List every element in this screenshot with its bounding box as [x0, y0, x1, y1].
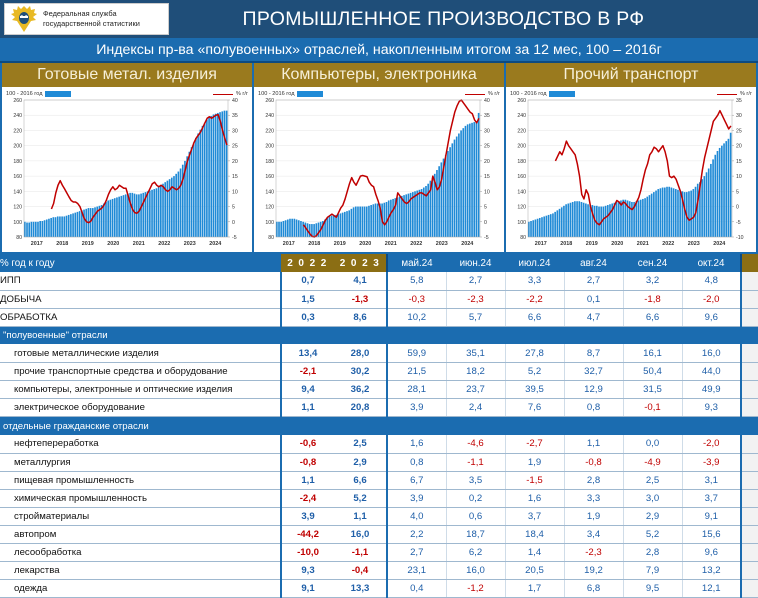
table-cell: 8,1 — [741, 308, 758, 326]
legend-bar-swatch — [297, 91, 323, 97]
table-cell: 19,2 — [564, 562, 623, 580]
row-label: стройматериалы — [0, 507, 281, 525]
col-header-metric: % год к году — [0, 254, 281, 272]
table-cell: 6,6 — [505, 308, 564, 326]
svg-text:2020: 2020 — [611, 241, 623, 247]
legend-bar-label: 100 - 2016 год — [258, 91, 294, 97]
table-row: ОБРАБОТКА0,38,610,25,76,64,76,69,68,1 — [0, 308, 758, 326]
table-cell: -0,9 — [741, 453, 758, 471]
svg-text:-5: -5 — [484, 235, 489, 241]
table-row: металлургия-0,82,90,8-1,11,9-0,8-4,9-3,9… — [0, 453, 758, 471]
table-cell: 1,6 — [387, 435, 446, 453]
table-cell: 2,8 — [564, 471, 623, 489]
table-cell: -0,7 — [741, 290, 758, 308]
table-cell: 10,2 — [387, 308, 446, 326]
svg-text:2021: 2021 — [637, 241, 649, 247]
row-label: нефтепереработка — [0, 435, 281, 453]
table-cell: 35,1 — [446, 344, 505, 362]
table-cell: 9,5 — [623, 580, 682, 598]
table-cell: 3,7 — [682, 489, 741, 507]
logo-line-1: Федеральная служба — [43, 9, 140, 19]
table-cell: 0,0 — [623, 435, 682, 453]
svg-text:180: 180 — [265, 159, 274, 165]
rosstat-logo: Федеральная служба государственной стати… — [4, 3, 169, 35]
table-cell: 0,1 — [564, 290, 623, 308]
chart-title-2: Прочий транспорт — [506, 63, 756, 87]
table-row: пищевая промышленность1,16,66,73,5-1,52,… — [0, 471, 758, 489]
table-cell: 9,1 — [682, 507, 741, 525]
table-cell: -0,4 — [334, 562, 387, 580]
svg-text:240: 240 — [517, 113, 526, 119]
table-cell: -44,2 — [281, 525, 334, 543]
chart-plot-area-0: 100 - 2016 год% г/г801001201401601802002… — [2, 87, 252, 252]
table-row: ДОБЫЧА1,5-1,3-0,3-2,3-2,20,1-1,8-2,0-0,7 — [0, 290, 758, 308]
table-cell: -2,1 — [281, 363, 334, 381]
svg-text:220: 220 — [517, 128, 526, 134]
col-header-10m24: 10М 24 — [741, 254, 758, 272]
table-cell: 12,1 — [682, 580, 741, 598]
table-cell: 6,7 — [387, 471, 446, 489]
table-cell: 0,8 — [564, 399, 623, 417]
svg-text:160: 160 — [265, 174, 274, 180]
legend-bar-swatch — [549, 91, 575, 97]
table-cell: -2,3 — [446, 290, 505, 308]
table-row: ИПП0,74,15,82,73,32,73,24,84,4 — [0, 272, 758, 290]
svg-text:35: 35 — [484, 113, 490, 119]
svg-text:120: 120 — [517, 205, 526, 211]
table-cell: -0,8 — [564, 453, 623, 471]
svg-text:80: 80 — [520, 235, 526, 241]
table-cell: -2,3 — [564, 544, 623, 562]
col-header-сен.24: сен.24 — [623, 254, 682, 272]
row-label: компьютеры, электронные и оптические изд… — [0, 381, 281, 399]
table-cell: 1,6 — [505, 489, 564, 507]
table-cell: -3,9 — [682, 453, 741, 471]
row-label: ИПП — [0, 272, 281, 290]
table-cell: 4,7 — [564, 308, 623, 326]
row-label: металлургия — [0, 453, 281, 471]
table-cell: -1,5 — [505, 471, 564, 489]
table-cell: -4,6 — [446, 435, 505, 453]
svg-text:180: 180 — [517, 159, 526, 165]
svg-text:100: 100 — [517, 220, 526, 226]
table-cell: 4,1 — [741, 471, 758, 489]
table-cell: 3,9 — [281, 507, 334, 525]
col-header-июл.24: июл.24 — [505, 254, 564, 272]
table-cell: 18,4 — [505, 525, 564, 543]
table-cell: 3,4 — [564, 525, 623, 543]
table-row: прочие транспортные средства и оборудова… — [0, 363, 758, 381]
svg-text:140: 140 — [13, 189, 22, 195]
table-row: автопром-44,216,02,218,718,43,45,215,619… — [0, 525, 758, 543]
col-header-июн.24: июн.24 — [446, 254, 505, 272]
table-cell: 28,0 — [334, 344, 387, 362]
table-cell: 3,3 — [505, 272, 564, 290]
svg-text:80: 80 — [268, 235, 274, 241]
table-cell: 32,7 — [564, 363, 623, 381]
table-header-row: % год к году2 0 2 22 0 2 3май.24июн.24ию… — [0, 254, 758, 272]
svg-text:0: 0 — [736, 205, 739, 211]
table-cell: 9,1 — [281, 580, 334, 598]
page-subtitle: Индексы пр-ва «полувоенных» отраслей, на… — [0, 38, 758, 63]
svg-text:2024: 2024 — [461, 241, 473, 247]
table-body: ИПП0,74,15,82,73,32,73,24,84,4ДОБЫЧА1,5-… — [0, 272, 758, 598]
table-section-row: "полувоенные" отрасли — [0, 326, 758, 344]
table-cell: 30,2 — [334, 363, 387, 381]
table-cell: 3,3 — [564, 489, 623, 507]
svg-text:120: 120 — [265, 205, 274, 211]
col-header-окт.24: окт.24 — [682, 254, 741, 272]
table-cell: 44,0 — [682, 363, 741, 381]
svg-text:35: 35 — [232, 113, 238, 119]
table-cell: 3,1 — [682, 471, 741, 489]
svg-text:2023: 2023 — [436, 241, 448, 247]
table-cell: 16,1 — [623, 344, 682, 362]
table-cell: 0,4 — [387, 580, 446, 598]
svg-text:15: 15 — [232, 174, 238, 180]
table-cell: 5,7 — [446, 308, 505, 326]
svg-text:15: 15 — [484, 174, 490, 180]
svg-text:30: 30 — [736, 113, 742, 119]
table-cell: 59,9 — [387, 344, 446, 362]
row-label: лекарства — [0, 562, 281, 580]
table-cell: 13,2 — [682, 562, 741, 580]
table-row: одежда9,113,30,4-1,21,76,89,512,15,1 — [0, 580, 758, 598]
table-cell: 2,9 — [334, 453, 387, 471]
svg-text:2024: 2024 — [209, 241, 221, 247]
table-cell: 4,1 — [334, 272, 387, 290]
chart-svg-0: 80100120140160180200220240260-5051015202… — [2, 87, 252, 250]
svg-text:25: 25 — [484, 144, 490, 150]
table-cell: -0,8 — [281, 453, 334, 471]
svg-text:160: 160 — [13, 174, 22, 180]
svg-text:200: 200 — [265, 144, 274, 150]
legend-line-label: % г/г — [488, 91, 500, 97]
row-label: электрическое оборудование — [0, 399, 281, 417]
svg-text:100: 100 — [13, 220, 22, 226]
table-cell: -1,8 — [623, 290, 682, 308]
table-cell: 7,6 — [505, 399, 564, 417]
chart-svg-1: 80100120140160180200220240260-5051015202… — [254, 87, 504, 250]
table-cell: 13,4 — [281, 344, 334, 362]
legend-line-label: % г/г — [740, 91, 752, 97]
table-cell: -2,2 — [505, 290, 564, 308]
table-cell: 13,3 — [334, 580, 387, 598]
row-label: одежда — [0, 580, 281, 598]
table-cell: 5,2 — [334, 489, 387, 507]
table-row: лекарства9,3-0,423,116,020,519,27,913,21… — [0, 562, 758, 580]
svg-text:2022: 2022 — [158, 241, 170, 247]
table-cell: -2,4 — [281, 489, 334, 507]
table-cell: 13,9 — [741, 562, 758, 580]
chart-panel-1: Компьютеры, электроника100 - 2016 год% г… — [254, 63, 504, 252]
table-cell: 2,5 — [334, 435, 387, 453]
table-cell: 50,4 — [623, 363, 682, 381]
table-cell: 29,7 — [741, 363, 758, 381]
table-row: стройматериалы3,91,14,00,63,71,92,99,15,… — [0, 507, 758, 525]
table-cell: 3,0 — [623, 489, 682, 507]
svg-text:160: 160 — [517, 174, 526, 180]
svg-text:2020: 2020 — [359, 241, 371, 247]
table-cell: 7,9 — [623, 562, 682, 580]
table-cell: 5,1 — [741, 580, 758, 598]
table-cell: 8,7 — [564, 344, 623, 362]
svg-text:240: 240 — [265, 113, 274, 119]
table-cell: 4,4 — [741, 272, 758, 290]
svg-text:0: 0 — [232, 220, 235, 226]
svg-text:2020: 2020 — [107, 241, 119, 247]
table-cell: 2,2 — [387, 525, 446, 543]
table-cell: 1,1 — [564, 435, 623, 453]
table-cell: 4,8 — [682, 272, 741, 290]
table-cell: 2,7 — [564, 272, 623, 290]
table-cell: 20,8 — [334, 399, 387, 417]
chart-panel-2: Прочий транспорт100 - 2016 год% г/г80100… — [506, 63, 756, 252]
svg-text:2017: 2017 — [283, 241, 295, 247]
chart-plot-area-1: 100 - 2016 год% г/г801001201401601802002… — [254, 87, 504, 252]
chart-legend-2: 100 - 2016 год% г/г — [506, 88, 756, 100]
svg-text:140: 140 — [517, 189, 526, 195]
row-label: химическая промышленность — [0, 489, 281, 507]
table-cell: 0,8 — [387, 453, 446, 471]
svg-text:-5: -5 — [232, 235, 237, 241]
section-label: отдельные гражданские отрасли — [0, 417, 758, 435]
svg-text:-5: -5 — [736, 220, 741, 226]
svg-text:2023: 2023 — [184, 241, 196, 247]
table-cell: 0,6 — [446, 507, 505, 525]
table-cell: 5,3 — [741, 507, 758, 525]
section-label: "полувоенные" отрасли — [0, 326, 758, 344]
table-cell: 34,8 — [741, 381, 758, 399]
table-cell: 5,0 — [741, 544, 758, 562]
logo-line-2: государственной статистики — [43, 19, 140, 29]
svg-text:2024: 2024 — [713, 241, 725, 247]
table-cell: -0,6 — [281, 435, 334, 453]
table-cell: 0,2 — [446, 489, 505, 507]
svg-text:25: 25 — [736, 128, 742, 134]
svg-text:30: 30 — [484, 128, 490, 134]
chart-legend-0: 100 - 2016 год% г/г — [2, 88, 252, 100]
table-section-row: отдельные гражданские отрасли — [0, 417, 758, 435]
russian-federation-emblem-icon — [9, 5, 39, 33]
table-cell: 49,9 — [682, 381, 741, 399]
table-cell: 6,2 — [446, 544, 505, 562]
table-cell: 3,9 — [387, 489, 446, 507]
table-cell: 0,3 — [281, 308, 334, 326]
table-cell: 21,5 — [387, 363, 446, 381]
table-cell: 31,5 — [623, 381, 682, 399]
table-cell: 39,5 — [505, 381, 564, 399]
table-cell: 29,8 — [741, 344, 758, 362]
svg-text:10: 10 — [484, 189, 490, 195]
table-cell: -0,1 — [623, 399, 682, 417]
table-cell: 15,6 — [682, 525, 741, 543]
table-cell: 3,8 — [741, 489, 758, 507]
table-cell: 18,7 — [446, 525, 505, 543]
svg-text:240: 240 — [13, 113, 22, 119]
table-cell: -1,1 — [334, 544, 387, 562]
svg-text:2022: 2022 — [410, 241, 422, 247]
table-cell: 20,5 — [505, 562, 564, 580]
svg-text:5: 5 — [232, 205, 235, 211]
table-cell: 12,9 — [564, 381, 623, 399]
table-cell: -4,9 — [623, 453, 682, 471]
table-cell: 18,2 — [446, 363, 505, 381]
svg-text:220: 220 — [13, 128, 22, 134]
chart-plot-area-2: 100 - 2016 год% г/г801001201401601802002… — [506, 87, 756, 252]
svg-text:10: 10 — [736, 174, 742, 180]
svg-text:2022: 2022 — [662, 241, 674, 247]
svg-text:15: 15 — [736, 159, 742, 165]
svg-text:10: 10 — [232, 189, 238, 195]
table-cell: 3,7 — [505, 507, 564, 525]
legend-bar-label: 100 - 2016 год — [510, 91, 546, 97]
chart-title-1: Компьютеры, электроника — [254, 63, 504, 87]
svg-text:2017: 2017 — [31, 241, 43, 247]
page-title: ПРОМЫШЛЕННОЕ ПРОИЗВОДСТВО В РФ — [169, 8, 758, 31]
svg-text:20: 20 — [232, 159, 238, 165]
table-cell: 4,0 — [387, 507, 446, 525]
table-cell: -2,0 — [682, 290, 741, 308]
svg-text:2023: 2023 — [688, 241, 700, 247]
table-cell: 6,6 — [334, 471, 387, 489]
row-label: пищевая промышленность — [0, 471, 281, 489]
svg-text:5: 5 — [736, 189, 739, 195]
row-label: лесообработка — [0, 544, 281, 562]
svg-text:20: 20 — [736, 144, 742, 150]
svg-text:140: 140 — [265, 189, 274, 195]
chart-legend-1: 100 - 2016 год% г/г — [254, 88, 504, 100]
col-header-2023: 2 0 2 3 — [334, 254, 387, 272]
table-cell: 2,4 — [446, 399, 505, 417]
table-cell: 3,2 — [623, 272, 682, 290]
table-cell: 1,1 — [281, 399, 334, 417]
table-row: электрическое оборудование1,120,83,92,47… — [0, 399, 758, 417]
table-cell: 36,2 — [334, 381, 387, 399]
legend-line-label: % г/г — [236, 91, 248, 97]
chart-panel-0: Готовые метал. изделия100 - 2016 год% г/… — [2, 63, 252, 252]
table-cell: 0,7 — [281, 272, 334, 290]
table-cell: -0,3 — [387, 290, 446, 308]
row-label: ДОБЫЧА — [0, 290, 281, 308]
table-cell: -10,0 — [281, 544, 334, 562]
svg-text:30: 30 — [232, 128, 238, 134]
table-cell: 1,5 — [281, 290, 334, 308]
table-cell: 1,1 — [334, 507, 387, 525]
row-label: готовые металлические изделия — [0, 344, 281, 362]
table-cell: -2,7 — [505, 435, 564, 453]
table-cell: 19,0 — [741, 525, 758, 543]
table-cell: 2,5 — [623, 471, 682, 489]
col-header-2022: 2 0 2 2 — [281, 254, 334, 272]
chart-svg-2: 80100120140160180200220240260-10-5051015… — [506, 87, 756, 250]
table-cell: 23,1 — [387, 562, 446, 580]
table-cell: 1,4 — [505, 544, 564, 562]
chart-title-0: Готовые метал. изделия — [2, 63, 252, 87]
table-cell: 2,9 — [623, 507, 682, 525]
table-cell: 6,7 — [741, 399, 758, 417]
svg-text:25: 25 — [232, 144, 238, 150]
table-cell: 9,6 — [682, 544, 741, 562]
svg-text:100: 100 — [265, 220, 274, 226]
table-cell: 23,7 — [446, 381, 505, 399]
table-cell: 16,0 — [334, 525, 387, 543]
row-label: ОБРАБОТКА — [0, 308, 281, 326]
logo-text-block: Федеральная служба государственной стати… — [43, 9, 140, 29]
table-cell: 8,6 — [334, 308, 387, 326]
table-cell: 9,6 — [682, 308, 741, 326]
table-cell: 9,4 — [281, 381, 334, 399]
svg-text:180: 180 — [13, 159, 22, 165]
table-cell: 5,2 — [623, 525, 682, 543]
table-cell: 5,2 — [505, 363, 564, 381]
legend-line-swatch — [213, 94, 233, 95]
table-cell: -1,1 — [446, 453, 505, 471]
svg-text:2019: 2019 — [586, 241, 598, 247]
table-row: лесообработка-10,0-1,12,76,21,4-2,32,89,… — [0, 544, 758, 562]
table-row: компьютеры, электронные и оптические изд… — [0, 381, 758, 399]
table-cell: 2,7 — [446, 272, 505, 290]
table-cell: 1,7 — [505, 580, 564, 598]
col-header-май.24: май.24 — [387, 254, 446, 272]
legend-bar-label: 100 - 2016 год — [6, 91, 42, 97]
page-header: Федеральная служба государственной стати… — [0, 0, 758, 38]
svg-text:5: 5 — [484, 205, 487, 211]
svg-text:2021: 2021 — [133, 241, 145, 247]
svg-text:2018: 2018 — [560, 241, 572, 247]
table-cell: 6,8 — [564, 580, 623, 598]
indicators-table: % год к году2 0 2 22 0 2 3май.24июн.24ию… — [0, 254, 758, 598]
svg-text:200: 200 — [517, 144, 526, 150]
legend-line-swatch — [465, 94, 485, 95]
table-cell: 28,1 — [387, 381, 446, 399]
svg-text:-10: -10 — [736, 235, 744, 241]
row-label: прочие транспортные средства и оборудова… — [0, 363, 281, 381]
table-cell: 1,9 — [505, 453, 564, 471]
table-cell: 2,7 — [387, 544, 446, 562]
table-cell: -1,3 — [334, 290, 387, 308]
legend-bar-swatch — [45, 91, 71, 97]
svg-text:20: 20 — [484, 159, 490, 165]
charts-row: Готовые метал. изделия100 - 2016 год% г/… — [0, 63, 758, 254]
table-cell: 5,8 — [387, 272, 446, 290]
table-cell: 3,5 — [446, 471, 505, 489]
svg-text:2018: 2018 — [308, 241, 320, 247]
table-row: химическая промышленность-2,45,23,90,21,… — [0, 489, 758, 507]
table-cell: 1,1 — [281, 471, 334, 489]
table-cell: -2,3 — [741, 435, 758, 453]
table-cell: 9,3 — [682, 399, 741, 417]
legend-line-swatch — [717, 94, 737, 95]
svg-text:2017: 2017 — [535, 241, 547, 247]
svg-text:2021: 2021 — [385, 241, 397, 247]
svg-text:2019: 2019 — [334, 241, 346, 247]
table-cell: 16,0 — [446, 562, 505, 580]
table-row: готовые металлические изделия13,428,059,… — [0, 344, 758, 362]
table-cell: 9,3 — [281, 562, 334, 580]
table-cell: 6,6 — [623, 308, 682, 326]
svg-text:0: 0 — [484, 220, 487, 226]
table-cell: 2,8 — [623, 544, 682, 562]
svg-text:120: 120 — [13, 205, 22, 211]
svg-text:220: 220 — [265, 128, 274, 134]
svg-text:80: 80 — [16, 235, 22, 241]
table-cell: 16,0 — [682, 344, 741, 362]
table-cell: 27,8 — [505, 344, 564, 362]
table-row: нефтепереработка-0,62,51,6-4,6-2,71,10,0… — [0, 435, 758, 453]
table-cell: 3,9 — [387, 399, 446, 417]
svg-text:2019: 2019 — [82, 241, 94, 247]
